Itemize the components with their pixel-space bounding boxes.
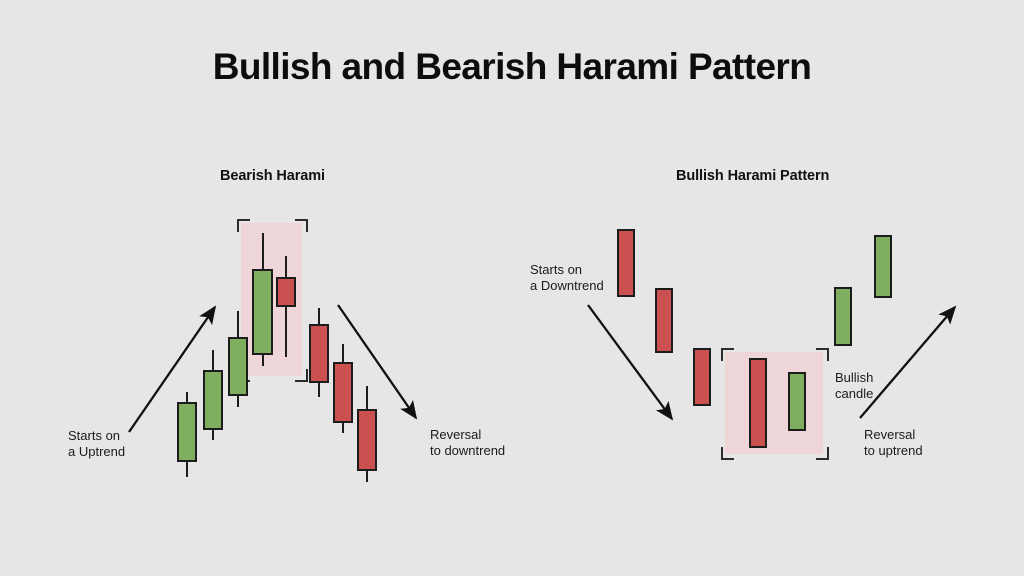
right-body-d1 xyxy=(617,229,635,297)
left-body-c6 xyxy=(309,324,329,383)
right-highlight-bracket-top-right xyxy=(816,348,829,361)
right-start-note: Starts on a Downtrend xyxy=(530,262,604,294)
right-body-d7 xyxy=(874,235,892,298)
right-highlight-bracket-bottom-left xyxy=(721,447,734,460)
right-bullish-note-line2: candle xyxy=(835,386,873,402)
right-body-d4 xyxy=(749,358,767,448)
right-bullish-note-line1: Bullish xyxy=(835,370,873,386)
left-highlight-bracket-bottom-right xyxy=(295,369,308,382)
left-body-c7 xyxy=(333,362,353,423)
right-end-note-line1: Reversal xyxy=(864,427,923,443)
left-body-c5 xyxy=(276,277,296,307)
left-highlight-bracket-top-left xyxy=(237,219,250,232)
left-start-note-line2: a Uptrend xyxy=(68,444,125,460)
right-end-note: Reversal to uptrend xyxy=(864,427,923,459)
left-body-c3 xyxy=(228,337,248,396)
left-body-c1 xyxy=(177,402,197,462)
right-body-d6 xyxy=(834,287,852,346)
left-panel-subtitle: Bearish Harami xyxy=(220,168,325,184)
right-start-note-line1: Starts on xyxy=(530,262,604,278)
page-title: Bullish and Bearish Harami Pattern xyxy=(0,46,1024,88)
right-highlight-bracket-top-left xyxy=(721,348,734,361)
right-end-note-line2: to uptrend xyxy=(864,443,923,459)
left-start-note: Starts on a Uptrend xyxy=(68,428,125,460)
canvas: Bullish and Bearish Harami Pattern Beari… xyxy=(0,0,1024,576)
right-uptrend-arrow xyxy=(860,307,955,418)
left-end-note-line1: Reversal xyxy=(430,427,505,443)
right-harami-highlight-box xyxy=(725,352,823,454)
right-start-note-line2: a Downtrend xyxy=(530,278,604,294)
left-end-note-line2: to downtrend xyxy=(430,443,505,459)
left-end-note: Reversal to downtrend xyxy=(430,427,505,459)
left-start-note-line1: Starts on xyxy=(68,428,125,444)
right-body-d3 xyxy=(693,348,711,406)
left-highlight-bracket-top-right xyxy=(295,219,308,232)
left-body-c8 xyxy=(357,409,377,471)
left-body-c4 xyxy=(252,269,273,355)
right-panel-subtitle: Bullish Harami Pattern xyxy=(676,168,829,184)
left-body-c2 xyxy=(203,370,223,430)
right-bullish-candle-note: Bullish candle xyxy=(835,370,873,402)
right-highlight-bracket-bottom-right xyxy=(816,447,829,460)
right-body-d2 xyxy=(655,288,673,353)
right-body-d5 xyxy=(788,372,806,431)
